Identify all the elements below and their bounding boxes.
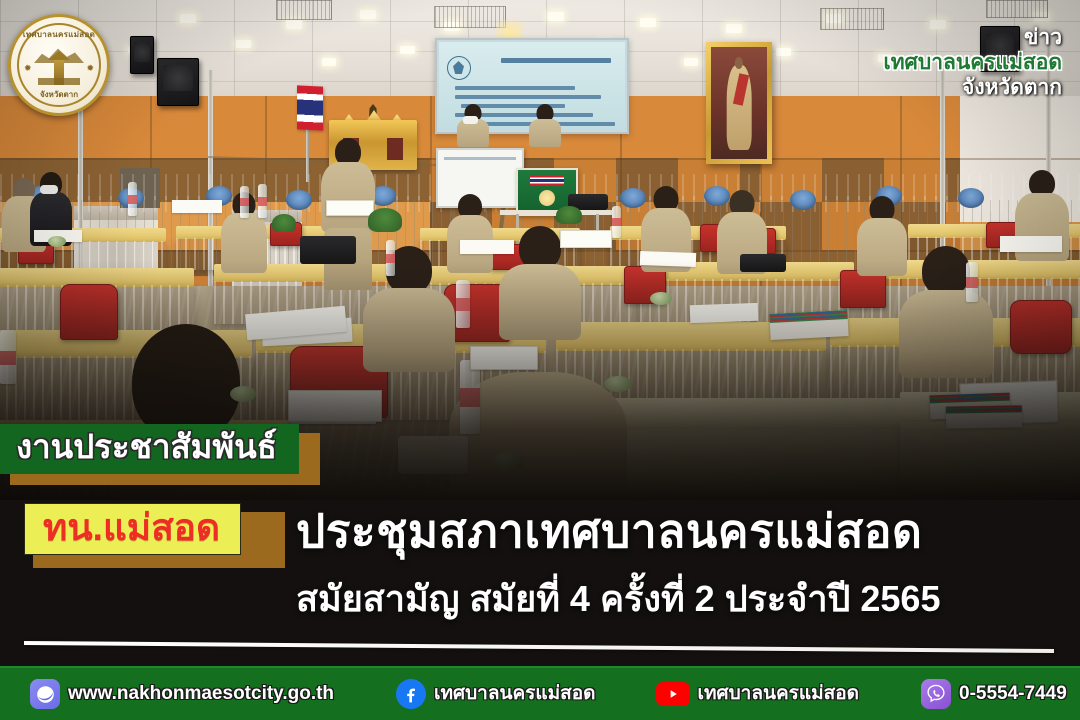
web-browser-icon <box>30 679 60 709</box>
plant <box>272 214 296 232</box>
seal-arc-top-text: เทศบาลนครแม่สอด <box>11 28 107 41</box>
divider-line <box>24 641 1054 653</box>
footer-website-label: www.nakhonmaesotcity.go.th <box>68 684 334 705</box>
person-seated <box>898 246 994 376</box>
municipality-badge: ทน.แม่สอด <box>24 503 241 555</box>
municipality-badge-label: ทน.แม่สอด <box>43 507 220 548</box>
plant <box>556 206 582 224</box>
table-row <box>580 398 920 500</box>
footer-item-website[interactable]: www.nakhonmaesotcity.go.th <box>30 679 334 709</box>
board-thai-flag <box>530 175 564 186</box>
footer-phone-label: 0-5554-7449 <box>959 684 1067 705</box>
name-card <box>326 200 374 216</box>
screen-seal-icon <box>447 56 471 80</box>
bag <box>740 254 786 272</box>
pr-ribbon-box: งานประชาสัมพันธ์ <box>0 424 299 474</box>
youtube-icon <box>656 682 690 706</box>
poster-canvas: เทศบาลนครแม่สอด ✹ ✹ จังหวัดตาก ข่าว เทศบ… <box>0 0 1080 720</box>
municipal-seal-logo: เทศบาลนครแม่สอด ✹ ✹ จังหวัดตาก <box>8 14 110 116</box>
seal-star-left-icon: ✹ <box>24 63 32 74</box>
contact-footer-bar: www.nakhonmaesotcity.go.th เทศบาลนครแม่ส… <box>0 666 1080 720</box>
seal-arc-bottom-text: จังหวัดตาก <box>11 88 107 101</box>
stacked-documents <box>946 405 1022 428</box>
bag <box>300 236 356 264</box>
plant <box>368 208 402 232</box>
footer-item-facebook[interactable]: เทศบาลนครแม่สอด <box>396 679 595 709</box>
headline-subtitle: สมัยสามัญ สมัยที่ 4 ครั้งที่ 2 ประจำปี 2… <box>296 578 940 620</box>
footer-facebook-label: เทศบาลนครแม่สอด <box>434 684 595 705</box>
viber-phone-icon <box>921 679 951 709</box>
person-seated <box>456 104 490 144</box>
municipality-badge-box: ทน.แม่สอด <box>24 503 241 555</box>
footer-item-youtube[interactable]: เทศบาลนครแม่สอด <box>656 682 859 706</box>
stacked-documents <box>769 310 848 340</box>
caption-line-municipality: เทศบาลนครแม่สอด <box>884 51 1062 76</box>
pr-ribbon-label: งานประชาสัมพันธ์ <box>16 428 277 467</box>
name-card <box>560 230 612 248</box>
royal-portrait <box>706 42 772 164</box>
caption-line-news: ข่าว <box>884 26 1062 51</box>
footer-youtube-label: เทศบาลนครแม่สอด <box>698 684 859 705</box>
chair <box>1010 300 1072 354</box>
person-seated <box>528 104 562 144</box>
name-card <box>470 346 538 370</box>
facebook-icon <box>396 679 426 709</box>
screen-title-line <box>501 58 611 63</box>
headline-title: ประชุมสภาเทศบาลนครแม่สอด <box>296 505 922 558</box>
caption-line-province: จังหวัดตาก <box>884 76 1062 101</box>
seal-emblem-icon <box>32 47 86 85</box>
board-emblem-icon <box>539 190 555 206</box>
person-seated <box>362 246 456 370</box>
top-right-caption: ข่าว เทศบาลนครแม่สอด จังหวัดตาก <box>884 26 1062 100</box>
footer-item-phone[interactable]: 0-5554-7449 <box>921 679 1067 709</box>
pr-ribbon: งานประชาสัมพันธ์ <box>0 424 299 474</box>
thai-flag <box>297 85 323 130</box>
seal-star-right-icon: ✹ <box>86 63 94 74</box>
